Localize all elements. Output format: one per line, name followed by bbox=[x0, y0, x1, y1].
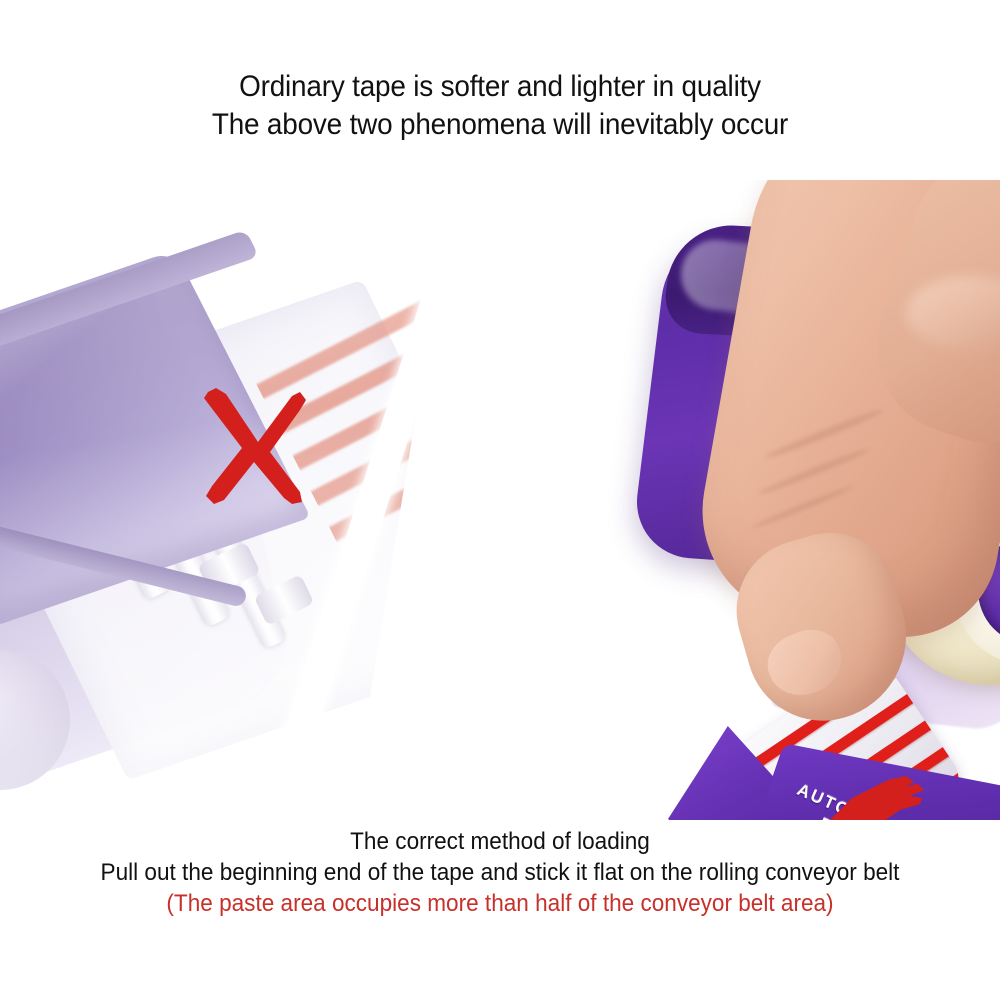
infographic-page: Ordinary tape is softer and lighter in q… bbox=[0, 0, 1000, 1000]
product-photo-composite: AUTO TAPE DISPENSER bbox=[0, 180, 1000, 820]
footer-line-1: The correct method of loading bbox=[30, 826, 970, 857]
heading-line-2: The above two phenomena will inevitably … bbox=[35, 106, 965, 144]
heading-line-1: Ordinary tape is softer and lighter in q… bbox=[35, 68, 965, 106]
check-mark-icon bbox=[748, 772, 938, 820]
footer-line-2: Pull out the beginning end of the tape a… bbox=[30, 857, 970, 888]
footer-line-3-warning: (The paste area occupies more than half … bbox=[30, 888, 970, 919]
footer-caption: The correct method of loading Pull out t… bbox=[30, 826, 970, 919]
page-heading: Ordinary tape is softer and lighter in q… bbox=[35, 68, 965, 144]
x-mark-icon bbox=[196, 386, 308, 504]
